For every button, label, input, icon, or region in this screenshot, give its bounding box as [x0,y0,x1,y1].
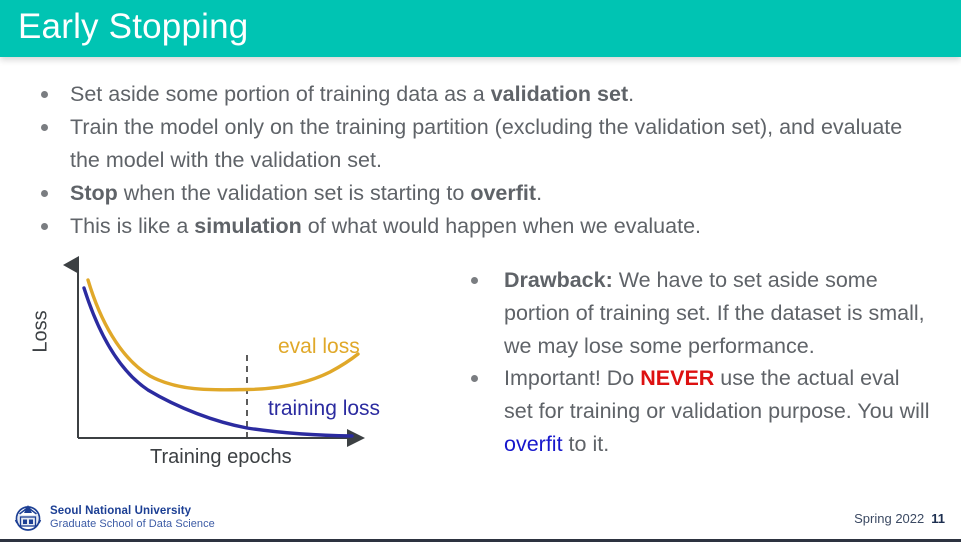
bullet-text: . [628,82,634,106]
emphasis-bold: validation set [491,82,628,106]
bullet-item-2: Stop when the validation set is starting… [33,177,933,210]
footer-university-name: Seoul National University [50,505,215,518]
footer-school-name: Graduate School of Data Science [50,518,215,530]
chart-x-axis-label: Training epochs [150,446,292,469]
top-bullet-list: Set aside some portion of training data … [33,78,933,243]
emphasis-bold: Drawback: [504,268,613,292]
page-title: Early Stopping [18,7,248,47]
bullet-item-3: This is like a simulation of what would … [33,210,933,243]
emphasis-overfit: overfit [504,432,563,456]
slide-canvas: Early Stopping Set aside some portion of… [0,0,961,542]
chart-y-axis-label: Loss [30,310,53,352]
bullet-text: Set aside some portion of training data … [70,82,491,106]
page-number: 11 [931,511,945,526]
eval-loss-series-label: eval loss [278,335,360,359]
bullet-item-0: Set aside some portion of training data … [33,78,933,111]
footer-meta: Spring 202211 [854,511,945,526]
right-bullet-item-1: Important! Do NEVER use the actual eval … [462,362,932,460]
footer-branding: Seoul National University Graduate Schoo… [13,503,215,533]
right-bullet-list: Drawback: We have to set aside some port… [462,264,932,461]
loss-curve-chart: Loss Training epochs eval loss training … [40,250,440,480]
emphasis-bold: overfit [470,181,536,205]
bullet-text: when the validation set is starting to [118,181,471,205]
bullet-item-1: Train the model only on the training par… [33,111,933,176]
footer-term: Spring 2022 [854,511,924,526]
bullet-text: This is like a [70,214,194,238]
bullet-text: to it. [563,432,610,456]
snu-emblem-icon [13,503,43,533]
bullet-text: . [536,181,542,205]
bullet-text: of what would happen when we evaluate. [302,214,701,238]
training-loss-series-label: training loss [268,397,380,421]
bullet-text: Train the model only on the training par… [70,115,902,172]
emphasis-never: NEVER [640,366,714,390]
bullet-text: Important! Do [504,366,640,390]
right-bullet-item-0: Drawback: We have to set aside some port… [462,264,932,362]
emphasis-bold: simulation [194,214,302,238]
emphasis-bold: Stop [70,181,118,205]
footer-text-block: Seoul National University Graduate Schoo… [50,505,215,530]
